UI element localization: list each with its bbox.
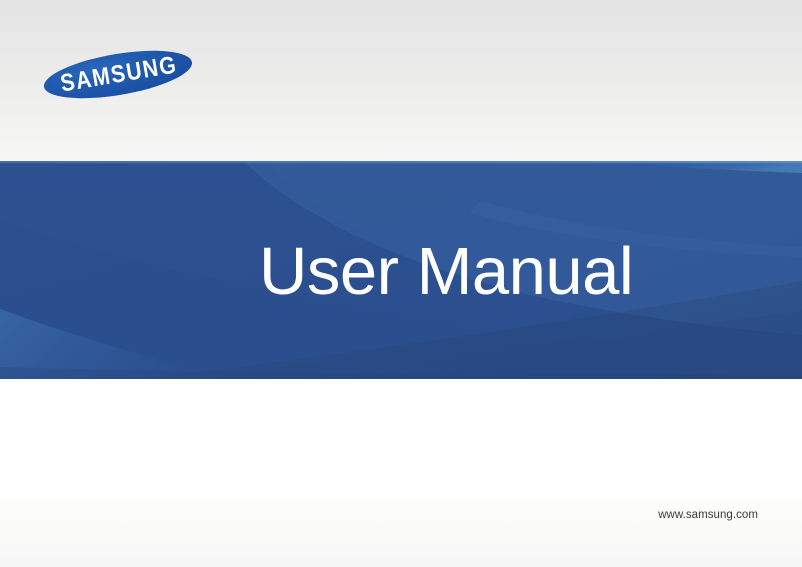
footer-area <box>0 379 802 567</box>
page-title: User Manual <box>259 238 633 305</box>
title-banner: User Manual <box>0 161 802 379</box>
manual-cover-page: SAMSUNG <box>0 0 802 567</box>
samsung-logo: SAMSUNG <box>43 54 193 95</box>
samsung-wordmark-text: SAMSUNG <box>57 53 179 97</box>
website-url[interactable]: www.samsung.com <box>658 509 758 521</box>
banner-title-wrapper: User Manual <box>0 161 802 379</box>
